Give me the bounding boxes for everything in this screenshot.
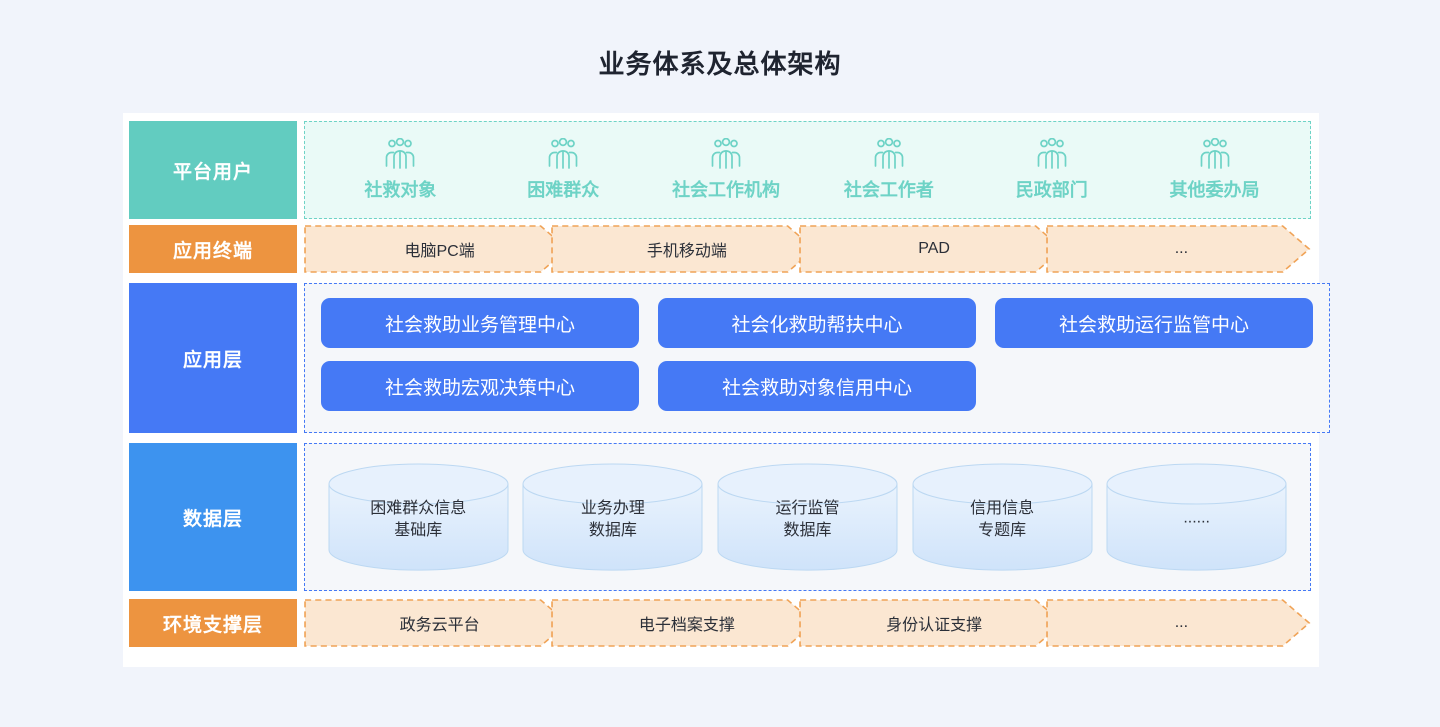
terminal-chevron-item[interactable]: 手机移动端: [551, 225, 816, 273]
platform-users-container: 社救对象 困难群众: [304, 121, 1311, 219]
database-label: 信用信息 专题库: [910, 498, 1095, 541]
users-group-icon: [1198, 138, 1232, 170]
user-type-item[interactable]: 困难群众: [482, 138, 645, 202]
users-group-icon: [872, 138, 906, 170]
layer-row-platform-users: 平台用户 社救对象: [123, 121, 1319, 219]
environment-body: 政务云平台 电子档案支撑 身份认证支撑: [304, 599, 1311, 647]
users-group-icon: [383, 138, 417, 170]
platform-users-body: 社救对象 困难群众: [304, 121, 1311, 219]
database-item[interactable]: ......: [1104, 462, 1289, 572]
user-type-label: 社会工作者: [844, 176, 934, 202]
environment-label: 电子档案支撑: [633, 611, 735, 635]
layer-label-terminals: 应用终端: [129, 225, 297, 273]
user-type-item[interactable]: 民政部门: [970, 138, 1133, 202]
application-module[interactable]: 社会救助对象信用中心: [658, 361, 976, 411]
terminal-chevron-item[interactable]: PAD: [799, 225, 1064, 273]
layer-row-application: 应用层 社会救助业务管理中心 社会化救助帮扶中心 社会救助运行监管中心 社会救助…: [123, 283, 1319, 433]
database-label: ......: [1104, 507, 1289, 529]
database-item[interactable]: 业务办理 数据库: [520, 462, 705, 572]
environment-label: ...: [1169, 614, 1188, 632]
user-type-item[interactable]: 社会工作机构: [645, 138, 808, 202]
environment-chevron-item[interactable]: ...: [1046, 599, 1311, 647]
environment-container: 政务云平台 电子档案支撑 身份认证支撑: [304, 599, 1311, 647]
application-module[interactable]: 社会化救助帮扶中心: [658, 298, 976, 348]
database-item[interactable]: 困难群众信息 基础库: [326, 462, 511, 572]
user-type-label: 困难群众: [527, 176, 599, 202]
layer-label-data: 数据层: [129, 443, 297, 591]
terminal-chevron-item[interactable]: ...: [1046, 225, 1311, 273]
user-type-item[interactable]: 社救对象: [319, 138, 482, 202]
architecture-diagram-card: 平台用户 社救对象: [123, 113, 1319, 667]
database-item[interactable]: 运行监管 数据库: [715, 462, 900, 572]
user-type-item[interactable]: 其他委办局: [1133, 138, 1296, 202]
layer-label-environment: 环境支撑层: [129, 599, 297, 647]
application-module[interactable]: 社会救助宏观决策中心: [321, 361, 639, 411]
layer-label-application: 应用层: [129, 283, 297, 433]
terminal-label: ...: [1169, 240, 1188, 258]
layer-row-data: 数据层 困难群众信息 基础库: [123, 443, 1319, 591]
database-label: 困难群众信息 基础库: [326, 498, 511, 541]
application-body: 社会救助业务管理中心 社会化救助帮扶中心 社会救助运行监管中心 社会救助宏观决策…: [304, 283, 1330, 433]
terminal-label: 电脑PC端: [399, 237, 475, 261]
terminal-chevron-item[interactable]: 电脑PC端: [304, 225, 569, 273]
data-container: 困难群众信息 基础库 业务办理 数据库 运行监管 数据库: [304, 443, 1311, 591]
user-type-label: 社救对象: [364, 176, 436, 202]
environment-chevron-item[interactable]: 身份认证支撑: [799, 599, 1064, 647]
users-group-icon: [546, 138, 580, 170]
data-body: 困难群众信息 基础库 业务办理 数据库 运行监管 数据库: [304, 443, 1311, 591]
application-row-1: 社会救助业务管理中心 社会化救助帮扶中心 社会救助运行监管中心: [321, 298, 1313, 348]
terminal-label: 手机移动端: [641, 237, 727, 261]
users-group-icon: [1035, 138, 1069, 170]
layer-row-terminals: 应用终端 电脑PC端 手机移动端: [123, 225, 1319, 273]
application-module[interactable]: 社会救助业务管理中心: [321, 298, 639, 348]
terminal-label: PAD: [912, 240, 950, 258]
layer-row-environment: 环境支撑层 政务云平台 电子档案支撑: [123, 599, 1319, 647]
user-type-label: 民政部门: [1016, 176, 1088, 202]
database-label: 运行监管 数据库: [715, 498, 900, 541]
environment-label: 身份认证支撑: [880, 611, 982, 635]
user-type-item[interactable]: 社会工作者: [807, 138, 970, 202]
layer-label-platform-users: 平台用户: [129, 121, 297, 219]
environment-label: 政务云平台: [394, 611, 480, 635]
database-item[interactable]: 信用信息 专题库: [910, 462, 1095, 572]
terminals-body: 电脑PC端 手机移动端 PAD: [304, 225, 1311, 273]
database-label: 业务办理 数据库: [520, 498, 705, 541]
users-group-icon: [709, 138, 743, 170]
user-type-label: 社会工作机构: [672, 176, 780, 202]
environment-chevron-item[interactable]: 政务云平台: [304, 599, 569, 647]
application-row-2: 社会救助宏观决策中心 社会救助对象信用中心: [321, 361, 1313, 411]
environment-chevron-item[interactable]: 电子档案支撑: [551, 599, 816, 647]
application-container: 社会救助业务管理中心 社会化救助帮扶中心 社会救助运行监管中心 社会救助宏观决策…: [304, 283, 1330, 433]
terminals-container: 电脑PC端 手机移动端 PAD: [304, 225, 1311, 273]
page-title: 业务体系及总体架构: [0, 0, 1440, 81]
application-module[interactable]: 社会救助运行监管中心: [995, 298, 1313, 348]
user-type-label: 其他委办局: [1170, 176, 1260, 202]
